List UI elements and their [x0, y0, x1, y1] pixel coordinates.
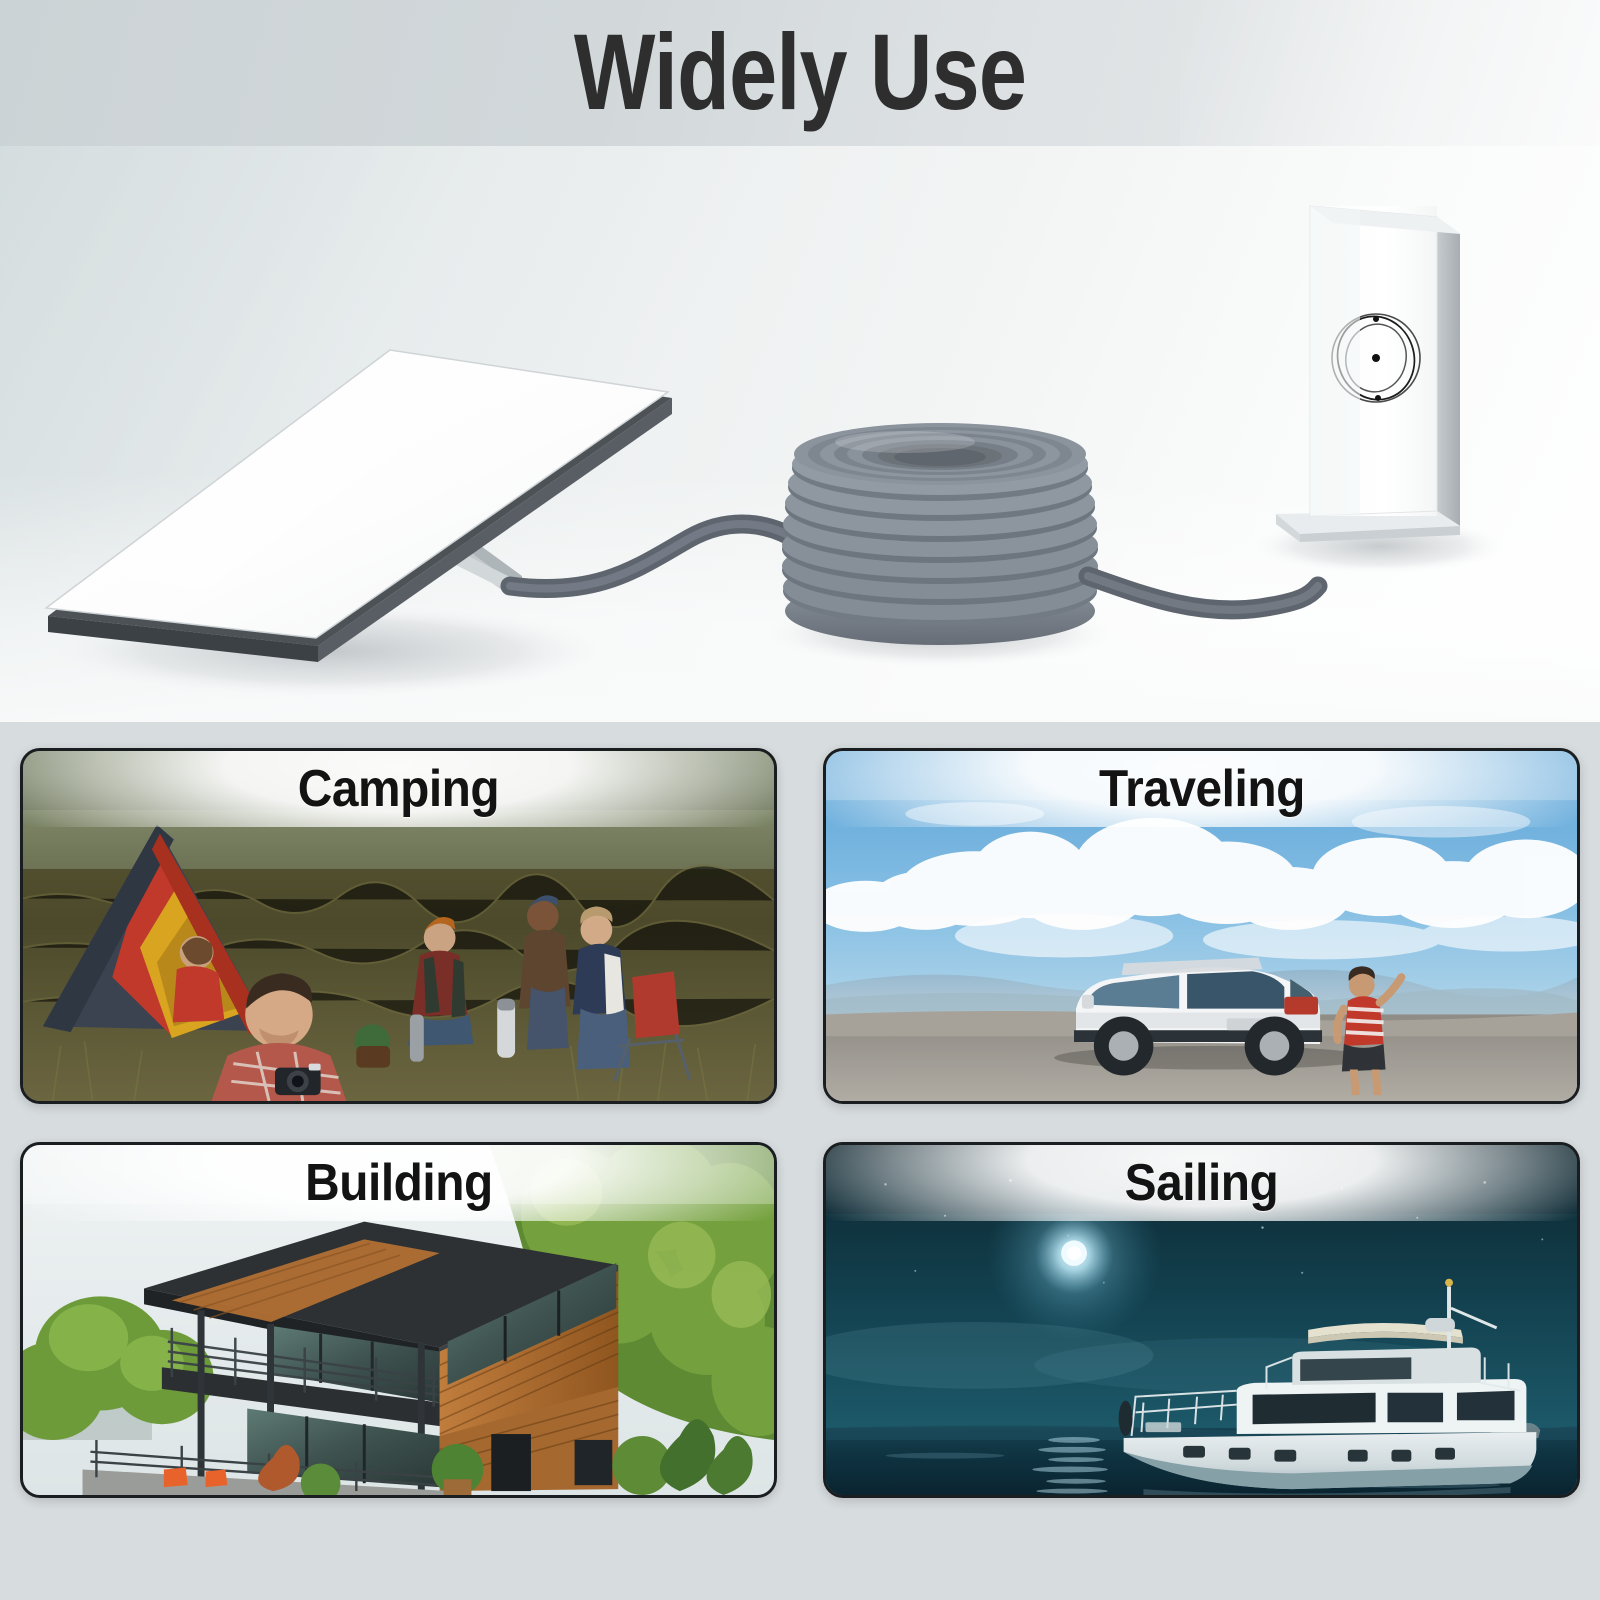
building-photo — [23, 1145, 774, 1495]
sailing-photo — [826, 1145, 1577, 1495]
wifi-router — [1276, 206, 1460, 542]
satellite-dish-panel — [46, 350, 672, 662]
coiled-cable — [782, 423, 1098, 645]
use-case-card-traveling[interactable]: Traveling — [823, 748, 1580, 1104]
use-case-card-building[interactable]: Building — [20, 1142, 777, 1498]
hero-product-scene — [0, 146, 1600, 722]
hero-artwork — [0, 146, 1600, 722]
header-banner: Widely Use — [0, 0, 1600, 146]
traveling-photo — [826, 751, 1577, 1101]
camping-photo — [23, 751, 774, 1101]
use-case-card-sailing[interactable]: Sailing — [823, 1142, 1580, 1498]
use-case-card-grid: Camping — [20, 748, 1580, 1498]
page-title: Widely Use — [160, 6, 1440, 138]
use-case-card-camping[interactable]: Camping — [20, 748, 777, 1104]
infographic-page: Widely Use — [0, 0, 1600, 1600]
